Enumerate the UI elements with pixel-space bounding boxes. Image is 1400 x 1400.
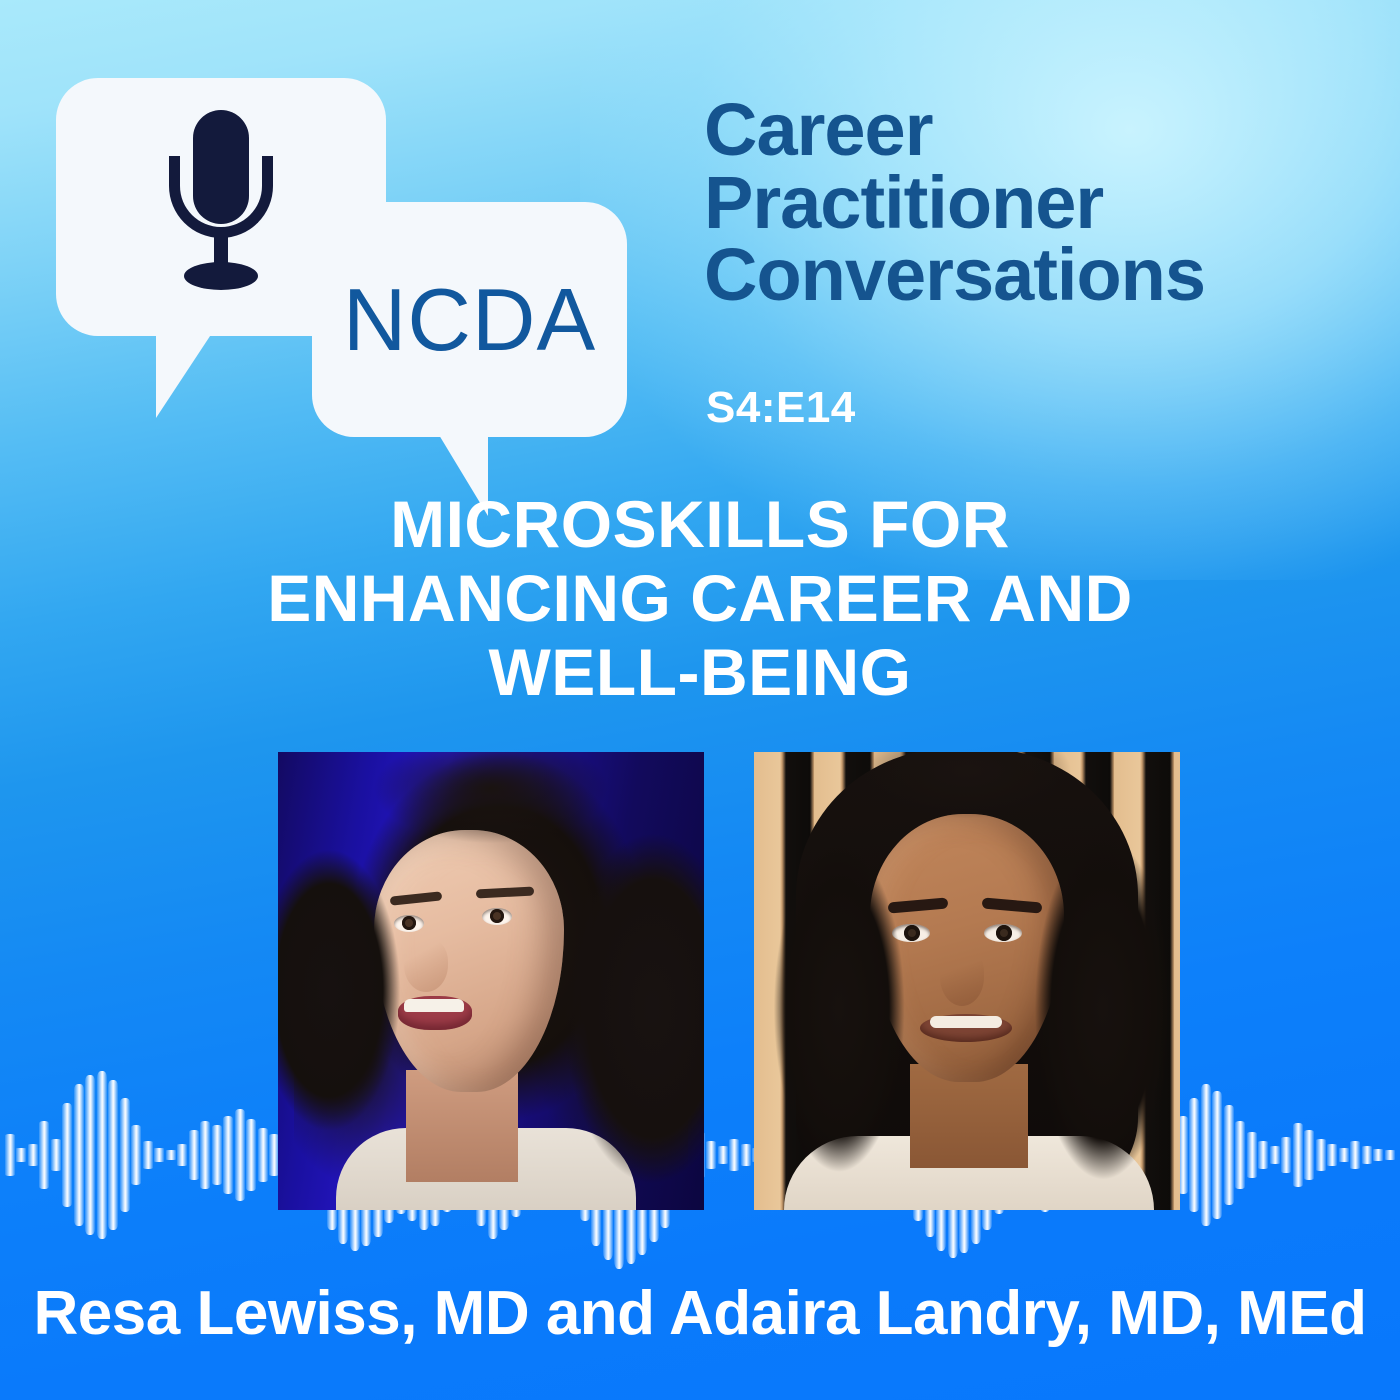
photo-left-hair-front [278, 752, 704, 1210]
podcast-logo: NCDA [56, 78, 656, 438]
waveform-bar [177, 1144, 187, 1167]
waveform-bar [1339, 1148, 1349, 1162]
waveform-bar [51, 1139, 61, 1171]
waveform-bar [5, 1134, 15, 1175]
waveform-bar [258, 1128, 268, 1183]
waveform-bar [85, 1075, 95, 1235]
waveform-bar [62, 1103, 72, 1208]
waveform-bar [1258, 1141, 1268, 1168]
microphone-base [184, 262, 258, 290]
photo-right-hair-front [754, 752, 1180, 1210]
microphone-icon [160, 110, 282, 292]
waveform-bar [1304, 1130, 1314, 1180]
waveform-bar [1293, 1123, 1303, 1187]
waveform-bar [1281, 1137, 1291, 1173]
waveform-bar [1189, 1098, 1199, 1212]
waveform-bar [729, 1139, 739, 1171]
waveform-bar [235, 1109, 245, 1200]
waveform-bar [223, 1116, 233, 1194]
episode-title: MICROSKILLS FOR ENHANCING CAREER AND WEL… [120, 488, 1280, 710]
waveform-bar [1327, 1144, 1337, 1167]
show-title-line-3: Conversations [704, 239, 1364, 312]
episode-title-line-1: MICROSKILLS FOR [120, 488, 1280, 562]
waveform-bar [28, 1144, 38, 1167]
waveform-bar [16, 1148, 26, 1162]
episode-title-line-3: WELL-BEING [120, 636, 1280, 710]
waveform-bar [212, 1125, 222, 1184]
waveform-bar [108, 1080, 118, 1230]
speech-bubble-tail-primary [156, 330, 214, 418]
episode-code-badge: S4:E14 [706, 383, 856, 433]
ncda-wordmark: NCDA [312, 202, 627, 437]
microphone-arc [169, 156, 273, 238]
episode-title-line-2: ENHANCING CAREER AND [120, 562, 1280, 636]
waveform-bar [154, 1148, 164, 1162]
podcast-cover-art: NCDA Career Practitioner Conversations S… [0, 0, 1400, 1400]
guest-photo-right [754, 752, 1180, 1210]
show-title-line-1: Career [704, 94, 1364, 167]
show-title: Career Practitioner Conversations [704, 94, 1364, 312]
waveform-bar [741, 1144, 751, 1167]
waveform-bar [1362, 1146, 1372, 1164]
guest-photo-left [278, 752, 704, 1210]
waveform-bar [1201, 1084, 1211, 1225]
waveform-bar [1247, 1132, 1257, 1178]
waveform-bar [143, 1141, 153, 1168]
waveform-bar [1224, 1105, 1234, 1205]
waveform-bar [1316, 1139, 1326, 1171]
waveform-bar [1212, 1091, 1222, 1219]
waveform-bar [166, 1150, 176, 1159]
show-title-line-2: Practitioner [704, 167, 1364, 240]
waveform-bar [1385, 1150, 1395, 1159]
waveform-bar [1373, 1149, 1383, 1160]
waveform-bar [74, 1084, 84, 1225]
waveform-bar [718, 1146, 728, 1164]
waveform-bar [1235, 1121, 1245, 1189]
waveform-bar [246, 1119, 256, 1192]
waveform-bar [39, 1121, 49, 1189]
waveform-bar [1350, 1141, 1360, 1168]
waveform-bar [200, 1121, 210, 1189]
waveform-bar [120, 1098, 130, 1212]
waveform-bar [706, 1141, 716, 1168]
waveform-bar [131, 1125, 141, 1184]
waveform-bar [97, 1071, 107, 1240]
guest-credit-line: Resa Lewiss, MD and Adaira Landry, MD, M… [0, 1278, 1400, 1349]
waveform-bar [1270, 1146, 1280, 1164]
waveform-bar [189, 1130, 199, 1180]
